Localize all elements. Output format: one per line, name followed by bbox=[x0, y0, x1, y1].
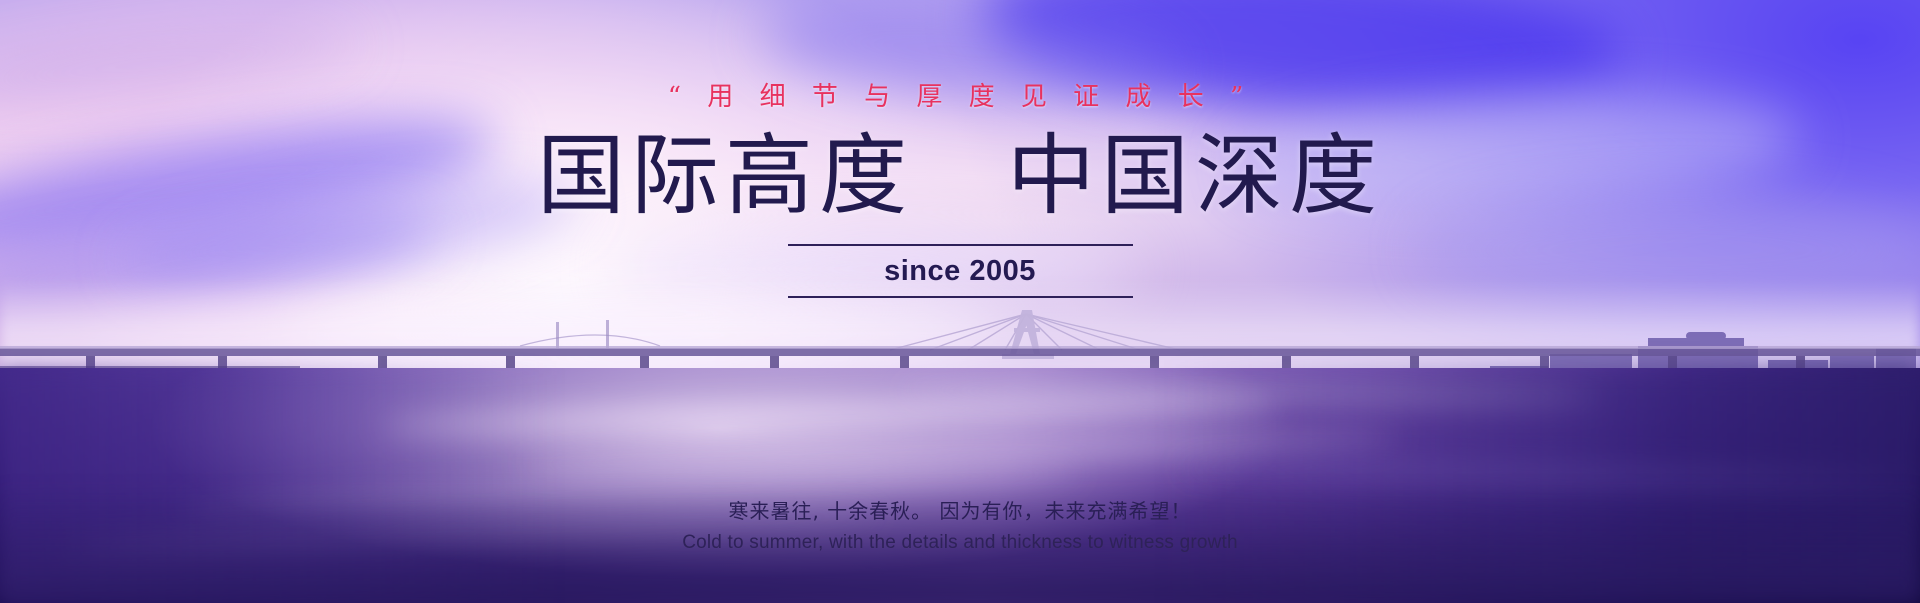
since-block: since 2005 bbox=[788, 244, 1133, 298]
divider-bottom bbox=[788, 296, 1133, 298]
hero-banner: “ 用 细 节 与 厚 度 见 证 成 长 ” 国际高度 中国深度 since … bbox=[0, 0, 1920, 603]
banner-headline: 国际高度 中国深度 bbox=[537, 129, 1383, 222]
banner-footer: 寒来暑往, 十余春秋。 因为有你，未来充满希望！ Cold to summer,… bbox=[0, 495, 1920, 554]
footer-chinese-text: 寒来暑往, 十余春秋。 因为有你，未来充满希望！ bbox=[0, 495, 1920, 524]
since-label: since 2005 bbox=[884, 246, 1036, 296]
banner-content: “ 用 细 节 与 厚 度 见 证 成 长 ” 国际高度 中国深度 since … bbox=[0, 0, 1920, 603]
banner-tagline: “ 用 细 节 与 厚 度 见 证 成 长 ” bbox=[668, 76, 1253, 113]
footer-english-text: Cold to summer, with the details and thi… bbox=[0, 532, 1920, 554]
